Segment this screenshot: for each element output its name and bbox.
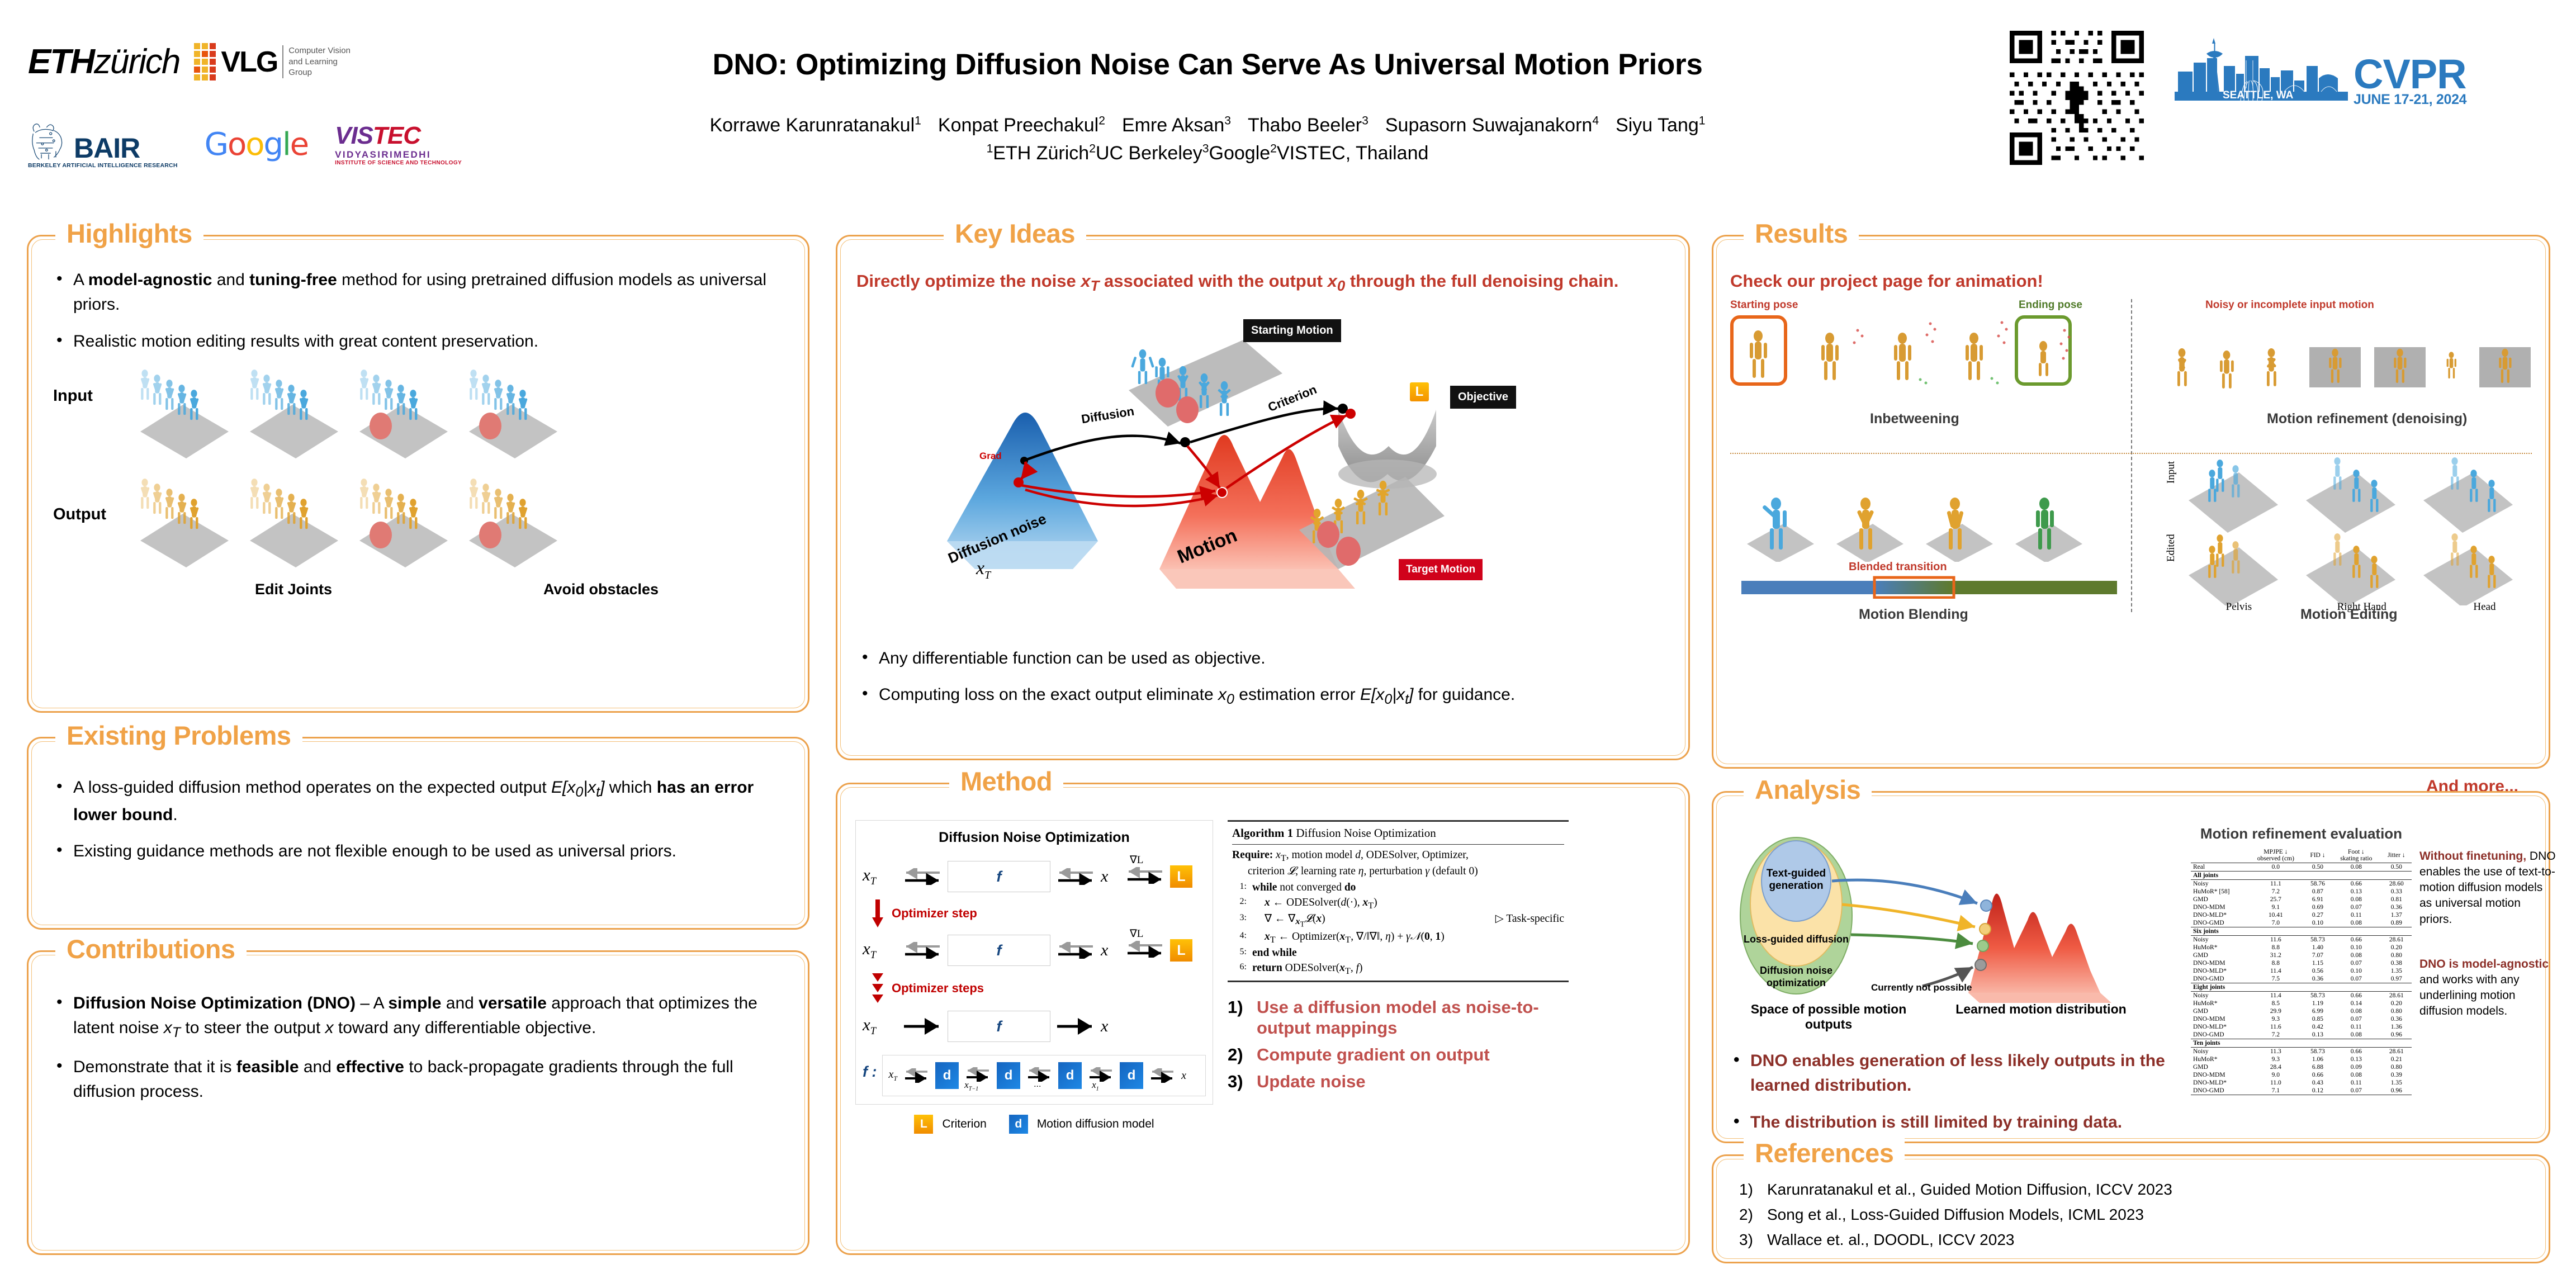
table-group-row: Eight joints	[2191, 983, 2412, 992]
table-cell: 0.08	[2331, 1031, 2381, 1039]
panel-key-ideas: Key Ideas Directly optimize the noise xT…	[836, 235, 1690, 760]
method-algorithm-box: Algorithm 1 Diffusion Noise Optimization…	[1228, 820, 1569, 982]
table-group-row: Six joints	[2191, 927, 2412, 936]
algorithm-line-4: 4:xT ← Optimizer(xT, ∇/‖∇‖, η) + γ𝒩(0, 1…	[1232, 930, 1564, 946]
key-ideas-bullet-0: Any differentiable function can be used …	[856, 646, 1669, 671]
motion-refinement-figure	[2161, 318, 2546, 408]
vistec-line2: INSTITUTE OF SCIENCE AND TECHNOLOGY	[335, 160, 462, 166]
panel-existing-problems: Existing Problems A loss-guided diffusio…	[27, 737, 809, 930]
key-ideas-target-motion-label: Target Motion	[1399, 559, 1483, 580]
method-legend: L Criterion d Motion diffusion model	[855, 1115, 1213, 1134]
table-cell: 0.07	[2331, 1087, 2381, 1095]
blending-timeline-bar	[1738, 575, 2124, 599]
highlights-input-label: Input	[53, 387, 93, 405]
table-cell: 0.08	[2331, 863, 2381, 872]
author-2: Emre Aksan3	[1122, 115, 1231, 136]
analysis-bullet-0: DNO enables generation of less likely ou…	[1728, 1049, 2175, 1098]
table-cell: 0.07	[2331, 903, 2381, 911]
table-cell: 1.06	[2304, 1055, 2331, 1063]
algorithm-require: Require: xT, motion model d, ODESolver, …	[1232, 848, 1564, 879]
table-cell: 0.11	[2331, 1023, 2381, 1031]
panel-title-highlights: Highlights	[55, 218, 203, 249]
table-cell: Noisy	[2191, 1048, 2247, 1056]
panel-title-method: Method	[949, 766, 1063, 797]
table-cell: 0.10	[2331, 944, 2381, 951]
reference-list: Karunratanakul et al., Guided Motion Dif…	[1732, 1181, 2532, 1249]
table-row: Noisy11.158.760.6628.60	[2191, 880, 2412, 888]
table-title: Motion refinement evaluation	[2191, 825, 2412, 842]
table-cell: 0.08	[2331, 1007, 2381, 1015]
results-editing-row-label-edited: Edited	[2165, 534, 2177, 562]
table-cell: 1.35	[2381, 967, 2412, 975]
table-cell: 0.38	[2381, 959, 2412, 967]
table-cell: GMD	[2191, 1063, 2247, 1071]
table-cell: 0.11	[2331, 911, 2381, 919]
table-cell: GMD	[2191, 1007, 2247, 1015]
method-step-0: 1)Use a diffusion model as noise-to-outp…	[1228, 997, 1569, 1039]
table-cell: 0.66	[2331, 880, 2381, 888]
table-cell: DNO-GMD	[2191, 1031, 2247, 1039]
contributions-bullets: Diffusion Noise Optimization (DNO) – A s…	[51, 991, 785, 1104]
table-cell: 0.80	[2381, 1063, 2412, 1071]
results-ending-pose-label: Ending pose	[2019, 299, 2082, 311]
table-cell: HuMoR*	[2191, 1055, 2247, 1063]
method-step-text-1: Compute gradient on output	[1257, 1044, 1490, 1066]
table-cell: 1.40	[2304, 944, 2331, 951]
table-cell: 9.1	[2247, 903, 2304, 911]
chain-arrow-4	[1086, 1067, 1115, 1082]
table-col-header-3: Foot ↓skating ratio	[2331, 848, 2381, 863]
table-cell: 0.87	[2304, 888, 2331, 896]
panel-analysis: Analysis	[1712, 791, 2550, 1143]
table-cell: 9.3	[2247, 1055, 2304, 1063]
vistec-line1: VIDYASIRIMEDHI	[335, 150, 462, 159]
table-row: DNO-MLD*11.40.560.101.35	[2191, 967, 2412, 975]
table-row: DNO-GMD7.20.130.080.96	[2191, 1031, 2412, 1039]
method-diagram: Diffusion Noise Optimization xT f x ∇L L	[855, 820, 1213, 1134]
motion-refinement-table: MPJPE ↓observed (cm)FID ↓Foot ↓skating r…	[2191, 848, 2412, 1095]
motion-tile	[244, 366, 348, 461]
panel-results: Results Check our project page for anima…	[1712, 235, 2550, 769]
chain-arrow-5	[1148, 1068, 1177, 1083]
svg-text:Text-guided: Text-guided	[1767, 868, 1826, 879]
table-cell: 1.19	[2304, 1000, 2331, 1007]
analysis-side-notes: Without finetuning, DNO enables the use …	[2419, 825, 2556, 1147]
bair-logo: BAIR BERKELEY ARTIFICIAL INTELLIGENCE RE…	[28, 120, 178, 169]
venn-and-distribution-plot: Text-guided generation Loss-guided diffu…	[1728, 825, 2175, 1004]
table-cell: DNO-MLD*	[2191, 1079, 2247, 1087]
table-cell: DNO-MLD*	[2191, 1023, 2247, 1031]
highlights-figure: Input Output	[51, 366, 785, 600]
bidirectional-arrow-icon-6	[1123, 941, 1167, 958]
table-cell: 6.88	[2304, 1063, 2331, 1071]
table-cell: 1.37	[2381, 911, 2412, 919]
results-noisy-input-label: Noisy or incomplete input motion	[2205, 299, 2374, 311]
author-1: Konpat Preechakul2	[938, 115, 1105, 136]
highlights-captions: Edit Joints Avoid obstacles	[146, 581, 761, 598]
table-cell: 29.9	[2247, 1007, 2304, 1015]
results-caption-editing: Motion Editing	[2300, 607, 2398, 623]
table-row: DNO-GMD7.00.100.080.89	[2191, 919, 2412, 927]
method-step-text-2: Update noise	[1257, 1071, 1366, 1092]
table-cell: 1.15	[2304, 959, 2331, 967]
table-cell: 7.1	[2247, 1087, 2304, 1095]
triple-down-arrow-icon	[870, 972, 885, 1005]
analysis-venn-figure: Text-guided generation Loss-guided diffu…	[1728, 825, 2175, 1010]
cvpr-logo: CVPR JUNE 17-21, 2024	[2175, 34, 2466, 106]
highlights-bullet-1: Realistic motion editing results with gr…	[51, 329, 785, 354]
method-steps: 1)Use a diffusion model as noise-to-outp…	[1228, 997, 1569, 1092]
algorithm-line-2: 2:x ← ODESolver(d(·), xT)	[1232, 896, 1564, 912]
logo-row-primary: ETHzürich VLG Computer Visionand Learnin…	[28, 42, 351, 82]
table-cell: 28.4	[2247, 1063, 2304, 1071]
reference-item-0: Karunratanakul et al., Guided Motion Dif…	[1732, 1181, 2532, 1199]
table-cell: 25.7	[2247, 896, 2304, 903]
table-cell: 0.50	[2304, 863, 2331, 872]
table-cell: 28.61	[2381, 936, 2412, 944]
table-cell: 0.80	[2381, 951, 2412, 959]
algorithm-name: Diffusion Noise Optimization	[1296, 826, 1436, 840]
legend-model-badge: d	[1009, 1115, 1028, 1134]
table-cell: 58.76	[2304, 880, 2331, 888]
method-d-box-1: d	[935, 1062, 959, 1089]
algorithm-line-3-comment: ▷ Task-specific	[1495, 912, 1564, 930]
motion-tile	[463, 475, 567, 570]
table-cell: 28.61	[2381, 1048, 2412, 1056]
svg-text:Currently not possible: Currently not possible	[1871, 982, 1972, 993]
motion-editing-figure	[2177, 454, 2546, 605]
table-cell: 0.39	[2381, 1071, 2412, 1079]
table-cell: DNO-MDM	[2191, 959, 2247, 967]
key-ideas-lead: Directly optimize the noise xT associate…	[856, 269, 1669, 297]
algorithm-heading: Algorithm 1 Diffusion Noise Optimization	[1232, 825, 1564, 845]
author-0: Korrawe Karunratanakul1	[710, 115, 921, 136]
table-col-header-4: Jitter ↓	[2381, 848, 2412, 863]
bidirectional-arrow-icon-5	[1054, 942, 1097, 959]
analysis-right: Motion refinement evaluation MPJPE ↓obse…	[2191, 825, 2556, 1147]
key-ideas-figure: Starting Motion Objective L Target Motio…	[913, 306, 1612, 642]
table-cell: 0.21	[2381, 1055, 2412, 1063]
method-optimizer-step-label-1: Optimizer step	[892, 906, 977, 921]
algorithm-line-6: 6:return ODESolver(xT, f)	[1232, 961, 1564, 977]
highlights-input-row	[135, 366, 567, 461]
table-cell: Noisy	[2191, 880, 2247, 888]
table-cell: 7.2	[2247, 888, 2304, 896]
table-cell: 58.73	[2304, 992, 2331, 1000]
panel-title-analysis: Analysis	[1744, 774, 1872, 805]
table-cell: 0.10	[2331, 967, 2381, 975]
method-diagram-row-1: xT f x ∇L L	[863, 856, 1206, 897]
results-vertical-divider	[2131, 299, 2132, 612]
table-cell: 0.12	[2304, 1087, 2331, 1095]
bidirectional-arrow-icon-2	[1054, 868, 1097, 885]
table-group-label: All joints	[2191, 872, 2412, 880]
table-row: DNO-GMD7.50.360.070.97	[2191, 975, 2412, 983]
bidirectional-arrow-icon-1	[901, 868, 944, 885]
motion-tile	[463, 366, 567, 461]
svg-text:optimization: optimization	[1767, 977, 1826, 988]
existing-problems-bullet-1: Existing guidance methods are not flexib…	[51, 839, 785, 864]
method-step-number-2: 3)	[1228, 1071, 1257, 1092]
panel-title-existing-problems: Existing Problems	[55, 720, 302, 751]
method-chain-end: x	[1181, 1069, 1186, 1082]
table-row: DNO-MLD*10.410.270.111.37	[2191, 911, 2412, 919]
reference-item-1: Song et al., Loss-Guided Diffusion Model…	[1732, 1206, 2532, 1224]
poster-header: ETHzürich VLG Computer Visionand Learnin…	[0, 0, 2576, 212]
method-diagram-row-2: xT f x ∇L L	[863, 930, 1206, 971]
panel-title-contributions: Contributions	[55, 934, 247, 964]
author-list: Korrawe Karunratanakul1Konpat Preechakul…	[492, 112, 1923, 139]
table-row: DNO-MLD*11.60.420.111.36	[2191, 1023, 2412, 1031]
table-col-header-1: MPJPE ↓observed (cm)	[2247, 848, 2304, 863]
table-row: Real0.00.500.080.50	[2191, 863, 2412, 872]
analysis-side-note-highlight-0: Without finetuning,	[2419, 850, 2526, 863]
table-row: DNO-MLD*11.00.430.111.35	[2191, 1079, 2412, 1087]
table-row: DNO-MDM9.00.660.080.39	[2191, 1071, 2412, 1079]
table-row: DNO-MDM9.10.690.070.36	[2191, 903, 2412, 911]
table-cell: 0.96	[2381, 1087, 2412, 1095]
affiliation-3: 2VISTEC, Thailand	[1270, 143, 1428, 164]
panel-references: References Karunratanakul et al., Guided…	[1712, 1154, 2550, 1263]
table-cell: 0.11	[2331, 1079, 2381, 1087]
table-cell: 7.2	[2247, 1031, 2304, 1039]
table-cell: 0.66	[2331, 1048, 2381, 1056]
table-cell: 0.89	[2381, 919, 2412, 927]
legend-model-label: Motion diffusion model	[1037, 1117, 1154, 1131]
method-f-definition: f : xT d xT−1 d ...	[863, 1047, 1206, 1096]
table-cell: 0.97	[2381, 975, 2412, 983]
motion-tile	[135, 366, 239, 461]
table-row: Noisy11.358.730.6628.61	[2191, 1048, 2412, 1056]
algorithm-line-1: 1:while not converged do	[1232, 880, 1564, 896]
table-cell: Noisy	[2191, 936, 2247, 944]
panel-method: Method Diffusion Noise Optimization xT f…	[836, 783, 1690, 1255]
highlights-output-row	[135, 475, 567, 570]
bidirectional-arrow-icon-3	[1123, 867, 1167, 884]
panel-highlights: Highlights A model-agnostic and tuning-f…	[27, 235, 809, 713]
table-row: HuMoR*9.31.060.130.21	[2191, 1055, 2412, 1063]
table-row: DNO-MDM8.81.150.070.38	[2191, 959, 2412, 967]
table-cell: 0.0	[2247, 863, 2304, 872]
table-cell: 8.8	[2247, 959, 2304, 967]
bair-bear-icon	[28, 120, 69, 160]
highlights-caption-1: Avoid obstacles	[441, 581, 761, 598]
table-cell: 0.66	[2331, 936, 2381, 944]
table-row: Noisy11.458.730.6628.61	[2191, 992, 2412, 1000]
table-cell: 0.66	[2304, 1071, 2331, 1079]
table-cell: 11.3	[2247, 1048, 2304, 1056]
table-cell: 8.5	[2247, 1000, 2304, 1007]
key-ideas-noise-symbol: xT	[976, 558, 991, 582]
table-cell: 10.41	[2247, 911, 2304, 919]
table-cell: 0.13	[2304, 1031, 2331, 1039]
table-cell: 0.96	[2381, 1031, 2412, 1039]
legend-criterion-label: Criterion	[942, 1117, 986, 1131]
method-step-number-1: 2)	[1228, 1044, 1257, 1066]
table-cell: GMD	[2191, 951, 2247, 959]
table-cell: 31.2	[2247, 951, 2304, 959]
table-cell: 9.0	[2247, 1071, 2304, 1079]
table-col-header-2: FID ↓	[2304, 848, 2331, 863]
bidirectional-arrow-icon-4	[901, 942, 944, 959]
key-ideas-bullet-1: Computing loss on the exact output elimi…	[856, 683, 1669, 710]
method-chain-start: xT	[888, 1068, 897, 1083]
table-header-row: MPJPE ↓observed (cm)FID ↓Foot ↓skating r…	[2191, 848, 2412, 863]
table-cell: 11.6	[2247, 1023, 2304, 1031]
inbetweening-figure	[1730, 314, 2122, 409]
table-cell: DNO-GMD	[2191, 1087, 2247, 1095]
svg-text:Loss-guided diffusion: Loss-guided diffusion	[1744, 934, 1849, 945]
affiliation-1: 2UC Berkeley	[1089, 143, 1202, 164]
table-row: DNO-MDM9.30.850.070.36	[2191, 1015, 2412, 1023]
analysis-side-note-1: DNO is model-agnostic and works with any…	[2419, 956, 2556, 1020]
joint-label-head: Head	[2423, 601, 2546, 613]
table-cell: 0.36	[2381, 903, 2412, 911]
svg-text:Diffusion noise: Diffusion noise	[1760, 965, 1832, 976]
method-d-box-3: d	[1058, 1062, 1082, 1089]
table-cell: 0.43	[2304, 1079, 2331, 1087]
table-row: HuMoR*8.81.400.100.20	[2191, 944, 2412, 951]
method-x-label-1: x	[1101, 867, 1120, 886]
table-row: GMD25.76.910.080.81	[2191, 896, 2412, 903]
qr-code[interactable]	[2010, 31, 2144, 165]
arrow-icon-1	[901, 1018, 944, 1035]
table-cell: 11.4	[2247, 992, 2304, 1000]
method-d-box-2: d	[997, 1062, 1020, 1089]
contributions-bullet-1: Demonstrate that it is feasible and effe…	[51, 1055, 785, 1104]
highlights-bullet-0: A model-agnostic and tuning-free method …	[51, 268, 785, 317]
table-cell: 0.81	[2381, 896, 2412, 903]
table-cell: 0.42	[2304, 1023, 2331, 1031]
down-arrow-icon	[870, 898, 885, 929]
analysis-side-note-highlight-1: DNO is model-agnostic	[2419, 958, 2549, 970]
table-cell: 9.3	[2247, 1015, 2304, 1023]
table-cell: 0.56	[2304, 967, 2331, 975]
table-cell: 0.10	[2304, 919, 2331, 927]
table-cell: HuMoR*	[2191, 1000, 2247, 1007]
panel-title-references: References	[1744, 1138, 1905, 1168]
results-editing-row-label-input: Input	[2165, 461, 2177, 484]
author-5: Siyu Tang1	[1616, 115, 1705, 136]
table-group-row: All joints	[2191, 872, 2412, 880]
method-chain-x1: x1	[1092, 1079, 1099, 1092]
table-cell: 58.73	[2304, 1048, 2331, 1056]
panel-title-results: Results	[1744, 218, 1859, 249]
table-cell: DNO-MDM	[2191, 903, 2247, 911]
analysis-side-note-0: Without finetuning, DNO enables the use …	[2419, 849, 2556, 927]
method-step-2: 3)Update noise	[1228, 1071, 1569, 1092]
table-group-row: Ten joints	[2191, 1039, 2412, 1048]
algorithm-line-3: 3:∇ ← ∇xT𝓛(x)▷ Task-specific	[1232, 912, 1564, 930]
table-cell: 0.07	[2331, 959, 2381, 967]
results-lead: Check our project page for animation!	[1730, 271, 2532, 291]
table-cell: 0.20	[2381, 944, 2412, 951]
vistec-logo: VISTEC VIDYASIRIMEDHI INSTITUTE OF SCIEN…	[335, 124, 462, 166]
highlights-caption-0: Edit Joints	[146, 581, 441, 598]
table-group-label: Ten joints	[2191, 1039, 2412, 1048]
method-diagram-title: Diffusion Noise Optimization	[863, 830, 1206, 846]
bair-logo-subtitle: BERKELEY ARTIFICIAL INTELLIGENCE RESEARC…	[28, 162, 178, 169]
affiliation-list: 1ETH Zürich2UC Berkeley3Google2VISTEC, T…	[492, 143, 1923, 164]
table-cell: Real	[2191, 863, 2247, 872]
panel-contributions: Contributions Diffusion Noise Optimizati…	[27, 950, 809, 1255]
method-step-1: 2)Compute gradient on output	[1228, 1044, 1569, 1066]
method-f-def-label: f :	[863, 1063, 877, 1081]
table-cell: 11.1	[2247, 880, 2304, 888]
method-chain-dots: ...	[1034, 1079, 1041, 1090]
key-ideas-grad-label: Grad	[979, 451, 1002, 462]
table-cell: 11.4	[2247, 967, 2304, 975]
table-row: Noisy11.658.730.6628.61	[2191, 936, 2412, 944]
eth-zurich-logo: ETHzürich	[28, 42, 179, 82]
key-ideas-surface-plot	[913, 306, 1612, 619]
table-cell: 0.27	[2304, 911, 2331, 919]
legend-criterion-badge: L	[914, 1115, 933, 1134]
table-cell: GMD	[2191, 896, 2247, 903]
cvpr-dates: JUNE 17-21, 2024	[2354, 93, 2466, 106]
method-diagram-row-3: xT f x	[863, 1006, 1206, 1047]
method-step-number-0: 1)	[1228, 997, 1257, 1039]
cvpr-name: CVPR	[2354, 55, 2466, 93]
method-optimizer-step-1: Optimizer step	[863, 897, 1206, 930]
results-caption-refinement: Motion refinement (denoising)	[2267, 411, 2467, 427]
method-f-box-3: f	[948, 1011, 1050, 1042]
table-cell: 1.35	[2381, 1079, 2412, 1087]
motion-blending-figure	[1736, 478, 2127, 562]
table-cell: 0.14	[2331, 1000, 2381, 1007]
existing-problems-bullets: A loss-guided diffusion method operates …	[51, 775, 785, 864]
motion-tile	[244, 475, 348, 570]
key-ideas-objective-badge: L	[1410, 382, 1429, 401]
contributions-bullet-0: Diffusion Noise Optimization (DNO) – A s…	[51, 991, 785, 1043]
table-cell: 0.07	[2331, 975, 2381, 983]
analysis-bullets: DNO enables generation of less likely ou…	[1728, 1049, 2175, 1134]
vlg-logo-subtitle: Computer Visionand LearningGroup	[282, 45, 351, 78]
table-cell: 0.36	[2304, 975, 2331, 983]
joint-label-pelvis: Pelvis	[2177, 601, 2300, 613]
table-cell: 28.61	[2381, 992, 2412, 1000]
method-grad-label-2: ∇L	[1130, 927, 1143, 940]
reference-item-2: Wallace et. al., DOODL, ICCV 2023	[1732, 1231, 2532, 1249]
algorithm-number: Algorithm 1	[1232, 826, 1293, 840]
table-cell: 6.99	[2304, 1007, 2331, 1015]
method-criterion-badge-1: L	[1170, 865, 1192, 888]
method-chain-xTm1: xT−1	[964, 1079, 978, 1092]
analysis-bullet-1: The distribution is still limited by tra…	[1728, 1110, 2175, 1135]
affiliation-0: 1ETH Zürich	[987, 143, 1090, 164]
table-cell: 0.69	[2304, 903, 2331, 911]
key-ideas-starting-motion-label: Starting Motion	[1243, 319, 1341, 342]
table-cell: 6.91	[2304, 896, 2331, 903]
key-ideas-objective-label: Objective	[1450, 386, 1516, 409]
method-criterion-badge-2: L	[1170, 939, 1192, 962]
table-cell: 0.09	[2331, 1063, 2381, 1071]
table-cell: DNO-MDM	[2191, 1071, 2247, 1079]
table-cell: DNO-GMD	[2191, 919, 2247, 927]
table-cell: 0.08	[2331, 919, 2381, 927]
method-d-box-4: d	[1120, 1062, 1143, 1089]
results-caption-blending: Motion Blending	[1859, 607, 1968, 623]
method-xT-label-2: xT	[863, 939, 897, 962]
table-cell: DNO-MLD*	[2191, 967, 2247, 975]
table-cell: DNO-MLD*	[2191, 911, 2247, 919]
table-cell: 0.36	[2381, 1015, 2412, 1023]
table-cell: 1.36	[2381, 1023, 2412, 1031]
table-cell: 0.08	[2331, 1071, 2381, 1079]
bair-logo-text: BAIR	[74, 136, 140, 160]
results-caption-inbetweening: Inbetweening	[1870, 411, 1959, 427]
table-block: Motion refinement evaluation MPJPE ↓obse…	[2191, 825, 2412, 1147]
